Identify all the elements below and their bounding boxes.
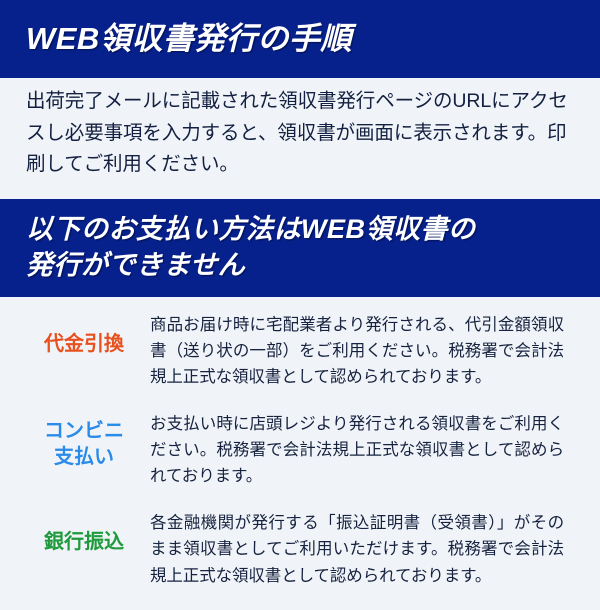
list-item: 代金引換 商品お届け時に宅配業者より発行される、代引金額領収書（送り状の一部）を…	[0, 312, 600, 390]
list-item: 銀行振込 各金融機関が発行する「振込証明書（受領書）」がそのまま領収書としてご利…	[0, 510, 600, 588]
main-banner: WEB領収書発行の手順	[0, 0, 600, 78]
secondary-banner-title: 以下のお支払い方法はWEB領収書の 発行ができません	[26, 212, 476, 284]
intro-paragraph: 出荷完了メールに記載された領収書発行ページのURLにアクセスし必要事項を入力する…	[26, 86, 572, 181]
method-description-bank: 各金融機関が発行する「振込証明書（受領書）」がそのまま領収書としてご利用いただけ…	[150, 510, 564, 588]
page-title: WEB領収書発行の手順	[26, 21, 352, 58]
method-description-cod: 商品お届け時に宅配業者より発行される、代引金額領収書（送り状の一部）をご利用くだ…	[150, 312, 564, 390]
secondary-banner: 以下のお支払い方法はWEB領収書の 発行ができません	[0, 199, 600, 297]
method-label-cod: 代金引換	[24, 312, 144, 358]
method-label-konbini: コンビニ 支払い	[24, 411, 144, 470]
receipt-info-graphic: WEB領収書発行の手順 出荷完了メールに記載された領収書発行ページのURLにアク…	[0, 0, 600, 600]
list-item: コンビニ 支払い お支払い時に店頭レジより発行される領収書をご利用ください。税務…	[0, 411, 600, 489]
payment-methods-list: 代金引換 商品お届け時に宅配業者より発行される、代引金額領収書（送り状の一部）を…	[0, 312, 600, 610]
method-description-konbini: お支払い時に店頭レジより発行される領収書をご利用ください。税務署で会計法規上正式…	[150, 411, 564, 489]
method-label-bank: 銀行振込	[24, 510, 144, 556]
